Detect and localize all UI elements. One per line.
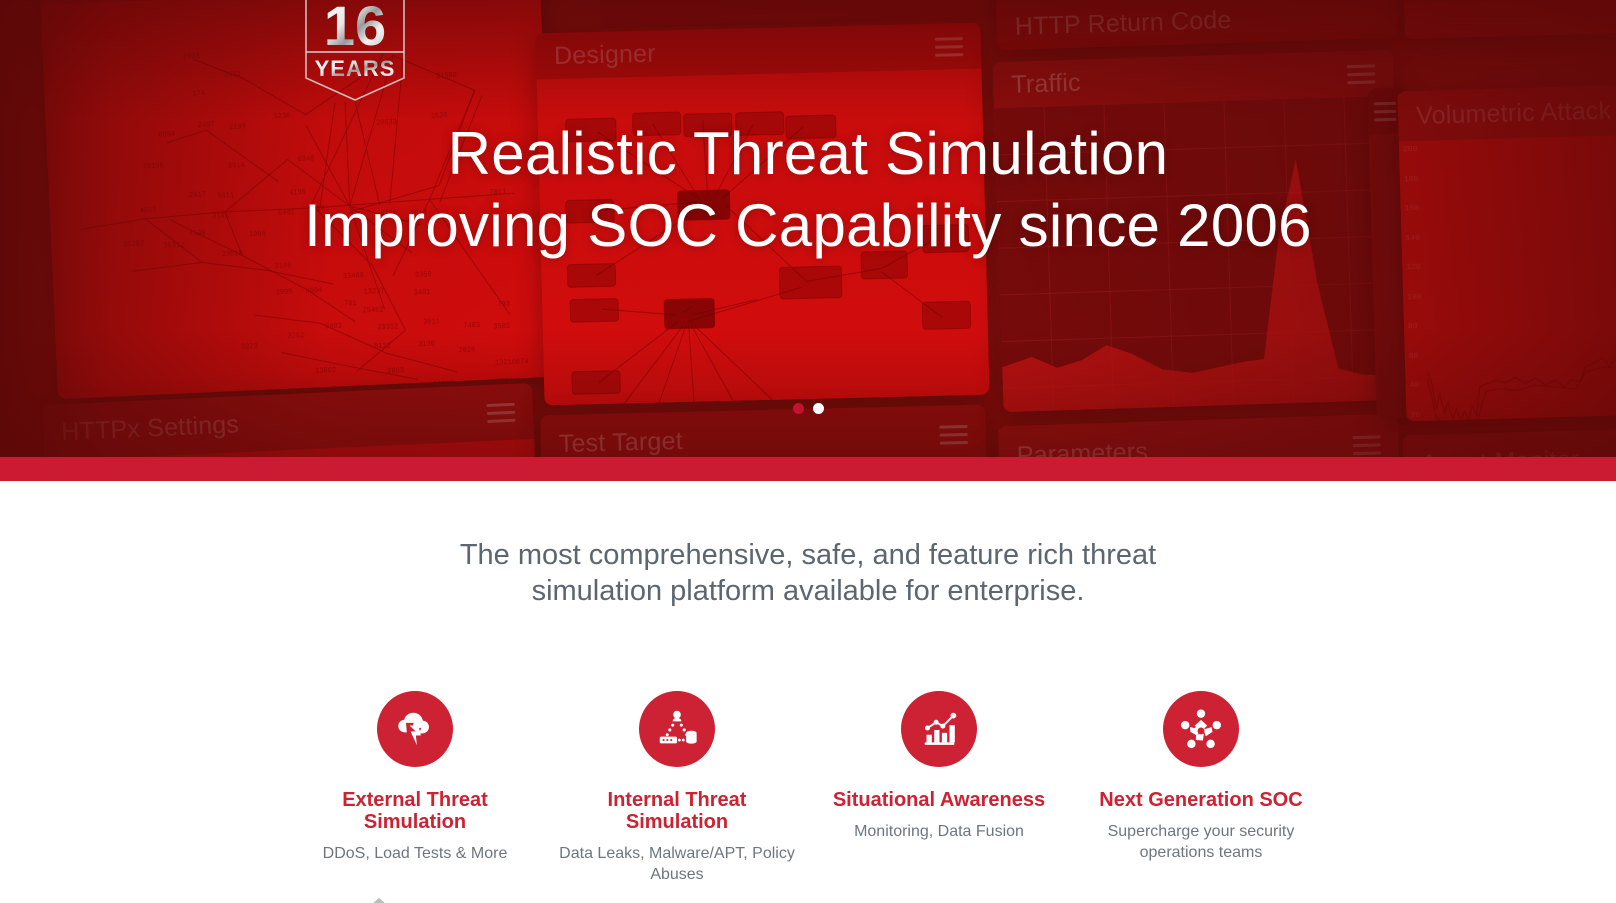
svg-text:2403: 2403: [183, 53, 200, 62]
background-panel-http-return-code: HTTP Return Code: [995, 0, 1398, 50]
feature-external-threat-simulation[interactable]: External Threat Simulation DDoS, Load Te…: [284, 691, 546, 885]
feature-internal-threat-simulation[interactable]: Internal Threat Simulation Data Leaks, M…: [546, 691, 808, 885]
feature-description: Supercharge your security operations tea…: [1078, 821, 1324, 863]
lead-line-1: The most comprehensive, safe, and featur…: [0, 537, 1616, 573]
svg-text:13002: 13002: [315, 367, 336, 376]
svg-text:7403: 7403: [463, 322, 480, 331]
svg-text:11408: 11408: [343, 272, 364, 281]
scroll-up-chevron-icon[interactable]: [366, 898, 392, 903]
svg-text:3130: 3130: [418, 340, 435, 349]
feature-description: Data Leaks, Malware/APT, Policy Abuses: [554, 843, 800, 885]
panel-header: HTTP Return Code: [995, 0, 1398, 50]
panel-title: Designer: [554, 39, 656, 70]
feature-title-line-1: Situational Awareness: [816, 789, 1062, 811]
feature-description: DDoS, Load Tests & More: [292, 843, 538, 864]
panel-header: [attacker:false: [1403, 0, 1616, 3]
carousel-dot-1[interactable]: [793, 403, 804, 414]
feature-title-line-1: Next Generation SOC: [1078, 789, 1324, 811]
hero-section: 448.2 packets/sec BGPMON: [0, 0, 1616, 481]
feature-desc-line-1: DDoS, Load Tests & More: [292, 843, 538, 864]
svg-text:8121: 8121: [374, 342, 392, 351]
feature-next-generation-soc[interactable]: Next Generation SOC Supercharge your sec…: [1070, 691, 1332, 885]
bar-chart-trend-icon: [901, 691, 977, 767]
feature-desc-line-1: Supercharge your security: [1078, 821, 1324, 842]
feature-desc-line-1: Monitoring, Data Fusion: [816, 821, 1062, 842]
badge-unit: YEARS: [315, 56, 396, 81]
network-collaboration-icon: [1163, 691, 1239, 767]
feature-title-line-1: Internal Threat: [554, 789, 800, 811]
internal-network-threat-icon: [639, 691, 715, 767]
svg-text:2028: 2028: [458, 346, 475, 355]
feature-title: External Threat Simulation: [292, 789, 538, 833]
anniversary-badge: 16 YEARS: [300, 0, 410, 103]
feature-title: Situational Awareness: [816, 789, 1062, 811]
feature-title-line-2: Simulation: [292, 811, 538, 833]
hero-headline: Realistic Threat Simulation Improving SO…: [0, 118, 1616, 262]
carousel-dot-2[interactable]: [813, 403, 824, 414]
svg-text:31500: 31500: [436, 72, 457, 81]
feature-situational-awareness[interactable]: Situational Awareness Monitoring, Data F…: [808, 691, 1070, 885]
feature-title: Next Generation SOC: [1078, 789, 1324, 811]
feature-desc-line-2: Abuses: [554, 864, 800, 885]
hero-accent-band: [0, 457, 1616, 481]
svg-text:3932: 3932: [224, 70, 241, 79]
feature-title-line-1: External Threat: [292, 789, 538, 811]
feature-title-line-2: Simulation: [554, 811, 800, 833]
cloud-lightning-icon: [377, 691, 453, 767]
hamburger-menu-icon: [939, 425, 967, 445]
panel-title: Traffic: [1011, 68, 1081, 99]
svg-text:3401: 3401: [414, 289, 432, 298]
svg-text:3350: 3350: [415, 271, 432, 280]
hamburger-menu-icon: [1352, 435, 1381, 455]
feature-description: Monitoring, Data Fusion: [816, 821, 1062, 842]
svg-text:701: 701: [344, 300, 358, 309]
feature-desc-line-2: operations teams: [1078, 842, 1324, 863]
feature-desc-line-1: Data Leaks, Malware/APT, Policy: [554, 843, 800, 864]
svg-text:3273: 3273: [241, 343, 258, 352]
svg-text:3483: 3483: [325, 322, 342, 331]
feature-list: External Threat Simulation DDoS, Load Te…: [0, 691, 1616, 885]
badge-number: 16: [324, 0, 386, 57]
background-panel-attacker: [attacker:false: [1403, 0, 1616, 39]
content-section: The most comprehensive, safe, and featur…: [0, 481, 1616, 903]
svg-text:4094: 4094: [305, 287, 323, 296]
svg-text:13237: 13237: [364, 287, 385, 296]
svg-text:3262: 3262: [287, 332, 304, 341]
carousel-dots[interactable]: [0, 403, 1616, 414]
lead-paragraph: The most comprehensive, safe, and featur…: [0, 481, 1616, 609]
hero-headline-line-1: Realistic Threat Simulation: [0, 118, 1616, 190]
svg-text:2003: 2003: [387, 367, 404, 376]
hamburger-menu-icon: [935, 37, 963, 57]
svg-text:174: 174: [192, 90, 206, 99]
lead-line-2: simulation platform available for enterp…: [0, 573, 1616, 609]
badge-ribbon-icon: 16 YEARS: [300, 0, 410, 103]
hero-notch-arrow-icon: [784, 480, 832, 481]
svg-text:793: 793: [497, 300, 510, 309]
svg-text:2905: 2905: [275, 288, 292, 297]
feature-title: Internal Threat Simulation: [554, 789, 800, 833]
svg-text:3503: 3503: [493, 323, 510, 332]
panel-title: HTTP Return Code: [1014, 6, 1232, 42]
svg-text:3011: 3011: [423, 318, 441, 327]
svg-text:3146: 3146: [274, 262, 291, 271]
panel-title: HTTPx Settings: [61, 410, 240, 447]
svg-text:25462: 25462: [362, 306, 383, 315]
hamburger-menu-icon: [1347, 64, 1376, 84]
svg-text:23352: 23352: [377, 323, 398, 332]
hero-headline-line-2: Improving SOC Capability since 2006: [0, 190, 1616, 262]
panel-title: Test Target: [558, 426, 683, 458]
svg-text:13210874: 13210874: [495, 358, 529, 368]
